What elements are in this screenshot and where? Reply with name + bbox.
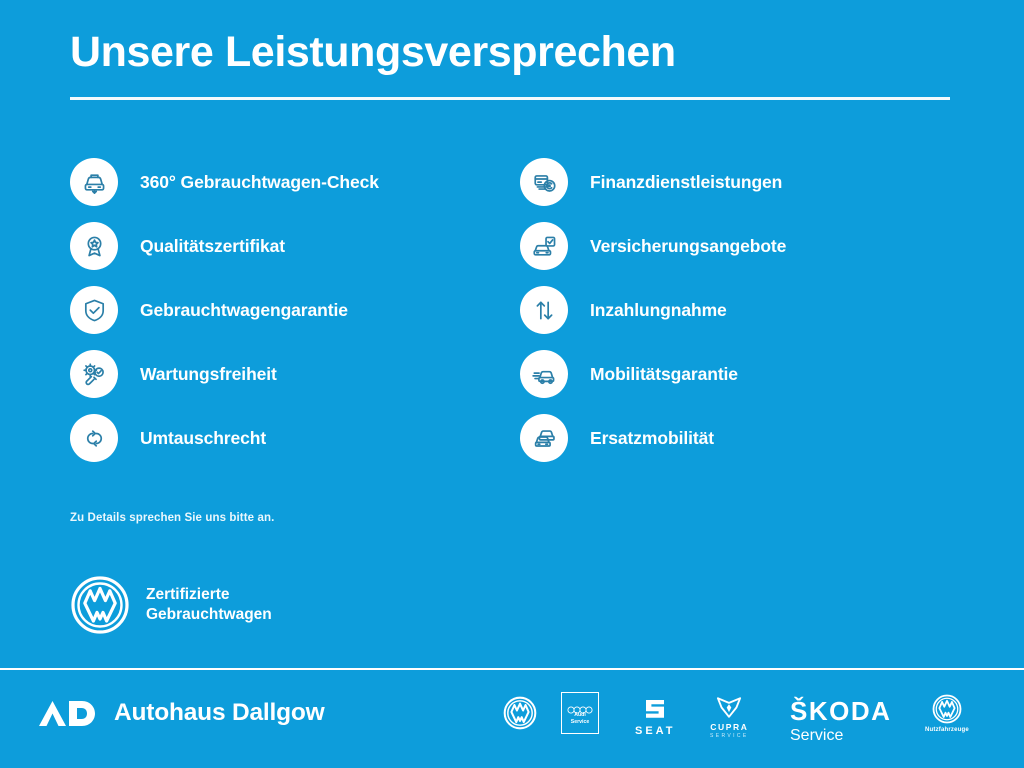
up-down-arrows-icon [520, 286, 568, 334]
header: Unsere Leistungsversprechen [70, 30, 954, 100]
brand-logo-vw-nutzfahrzeuge: Nutzfahrzeuge [925, 694, 969, 733]
benefit-label: Ersatzmobilität [590, 428, 714, 449]
benefit-item: 360° Gebrauchtwagen-Check [70, 158, 520, 206]
ad-monogram-icon [36, 696, 98, 730]
volkswagen-logo-icon [503, 696, 537, 730]
benefit-label: Versicherungsangebote [590, 236, 786, 257]
shield-check-icon [70, 286, 118, 334]
benefit-item: Inzahlungnahme [520, 286, 970, 334]
brand-logos: Audi Service SEAT [495, 684, 1015, 754]
seat-wordmark: SEAT [635, 725, 676, 737]
skoda-wordmark: ŠKODA [790, 698, 891, 724]
benefits-right-column: Finanzdienstleistungen Versicherungsange… [520, 158, 970, 462]
two-cars-icon [520, 414, 568, 462]
award-rosette-icon [70, 222, 118, 270]
footer: Autohaus Dallgow [0, 670, 1024, 768]
benefit-item: Gebrauchtwagengarantie [70, 286, 520, 334]
benefits-left-column: 360° Gebrauchtwagen-Check Qualitätszerti… [70, 158, 520, 462]
benefit-item: Finanzdienstleistungen [520, 158, 970, 206]
benefit-item: Umtauschrecht [70, 414, 520, 462]
benefit-item: Wartungsfreiheit [70, 350, 520, 398]
audi-service-label: Audi Service [571, 712, 589, 725]
brand-logo-vw [503, 696, 537, 730]
benefit-item: Versicherungsangebote [520, 222, 970, 270]
promo-slide: Unsere Leistungsversprechen 360° Gebrauc… [0, 0, 1024, 768]
cupra-logo-icon [716, 696, 742, 719]
brand-logo-audi: Audi Service [561, 692, 599, 734]
dealer-branding: Autohaus Dallgow [36, 696, 325, 730]
certified-used-cars-block: Zertifizierte Gebrauchtwagen [70, 575, 272, 635]
benefit-label: 360° Gebrauchtwagen-Check [140, 172, 379, 193]
benefit-label: Wartungsfreiheit [140, 364, 277, 385]
brand-logo-cupra: CUPRA SERVICE [710, 696, 749, 739]
title-divider [70, 97, 950, 100]
certified-label: Zertifizierte Gebrauchtwagen [146, 585, 272, 626]
audi-service-box: Audi Service [561, 692, 599, 734]
wrench-gear-check-icon [70, 350, 118, 398]
benefit-item: Qualitätszertifikat [70, 222, 520, 270]
benefit-item: Mobilitätsgarantie [520, 350, 970, 398]
page-title: Unsere Leistungsversprechen [70, 30, 954, 75]
volkswagen-logo-icon [70, 575, 130, 635]
benefit-label: Qualitätszertifikat [140, 236, 285, 257]
benefit-label: Mobilitätsgarantie [590, 364, 738, 385]
dealer-name: Autohaus Dallgow [114, 699, 325, 727]
details-note: Zu Details sprechen Sie uns bitte an. [70, 512, 274, 524]
benefit-label: Inzahlungnahme [590, 300, 727, 321]
certified-line-1: Zertifizierte [146, 585, 272, 605]
benefits-grid: 360° Gebrauchtwagen-Check Qualitätszerti… [70, 158, 970, 462]
car-front-check-icon [70, 158, 118, 206]
benefit-label: Gebrauchtwagengarantie [140, 300, 348, 321]
audi-rings-icon [567, 701, 593, 709]
certified-line-2: Gebrauchtwagen [146, 605, 272, 625]
skoda-subtitle: Service [790, 728, 843, 744]
benefit-item: Ersatzmobilität [520, 414, 970, 462]
benefit-label: Umtauschrecht [140, 428, 266, 449]
volkswagen-logo-icon [932, 694, 962, 724]
car-speed-icon [520, 350, 568, 398]
brand-logo-seat: SEAT [635, 696, 676, 737]
brand-logo-skoda: ŠKODA Service [790, 698, 891, 744]
audi-label-line-2: Service [571, 719, 589, 726]
car-insurance-check-icon [520, 222, 568, 270]
cupra-wordmark: CUPRA [710, 722, 748, 732]
benefit-label: Finanzdienstleistungen [590, 172, 782, 193]
exchange-arrows-icon [70, 414, 118, 462]
cupra-subtitle: SERVICE [710, 733, 749, 739]
money-euro-coin-icon [520, 158, 568, 206]
vw-nutzfahrzeuge-caption: Nutzfahrzeuge [925, 727, 969, 733]
seat-logo-icon [642, 696, 668, 722]
